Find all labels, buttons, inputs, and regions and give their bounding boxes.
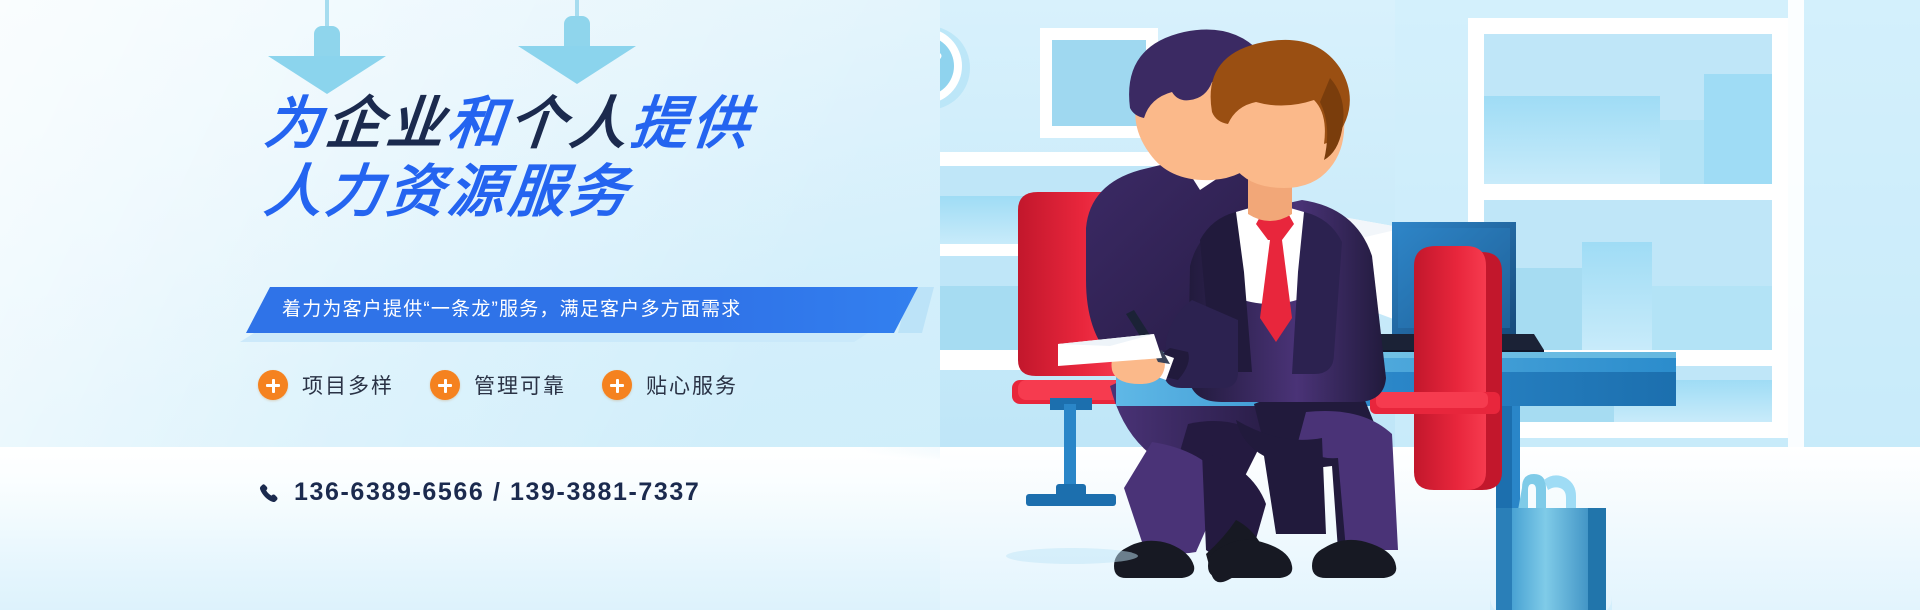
subtitle-ribbon: 着力为客户提供“一条龙”服务，满足客户多方面需求 [240, 287, 940, 343]
feature-label: 管理可靠 [474, 370, 566, 400]
plus-icon [258, 370, 288, 400]
headline-line-1: 为企业和个人提供 [262, 96, 908, 153]
headline-seg-1: 为 [262, 92, 330, 156]
feature-list: 项目多样 管理可靠 贴心服务 [258, 370, 738, 400]
subtitle-text: 着力为客户提供“一条龙”服务，满足客户多方面需求 [282, 287, 741, 333]
headline-seg-3: 和 [445, 92, 513, 156]
contact-phone[interactable]: 136-6389-6566 / 139-3881-7337 [258, 478, 700, 507]
headline-seg-2: 企业 [323, 92, 452, 156]
office-interview-illustration [940, 0, 1920, 610]
feature-item[interactable]: 贴心服务 [602, 370, 738, 400]
chair-shadow [1006, 548, 1138, 564]
headline-seg-6: 人力资源服务 [262, 160, 635, 224]
ribbon-under-shadow [240, 333, 868, 342]
hr-services-banner: 为企业和个人提供 人力资源服务 着力为客户提供“一条龙”服务，满足客户多方面需求… [0, 0, 1920, 610]
feature-item[interactable]: 管理可靠 [430, 370, 566, 400]
headline-seg-4: 个人 [506, 92, 635, 156]
text-column: 为企业和个人提供 人力资源服务 着力为客户提供“一条龙”服务，满足客户多方面需求… [0, 0, 960, 610]
plus-icon [602, 370, 632, 400]
headline-line-2: 人力资源服务 [262, 164, 908, 221]
feature-label: 项目多样 [302, 370, 394, 400]
phone-icon [258, 482, 280, 504]
plus-icon [430, 370, 460, 400]
page-title: 为企业和个人提供 人力资源服务 [262, 96, 902, 221]
phone-number: 136-6389-6566 / 139-3881-7337 [294, 478, 700, 507]
headline-seg-5: 提供 [628, 92, 757, 156]
feature-label: 贴心服务 [646, 370, 738, 400]
feature-item[interactable]: 项目多样 [258, 370, 394, 400]
